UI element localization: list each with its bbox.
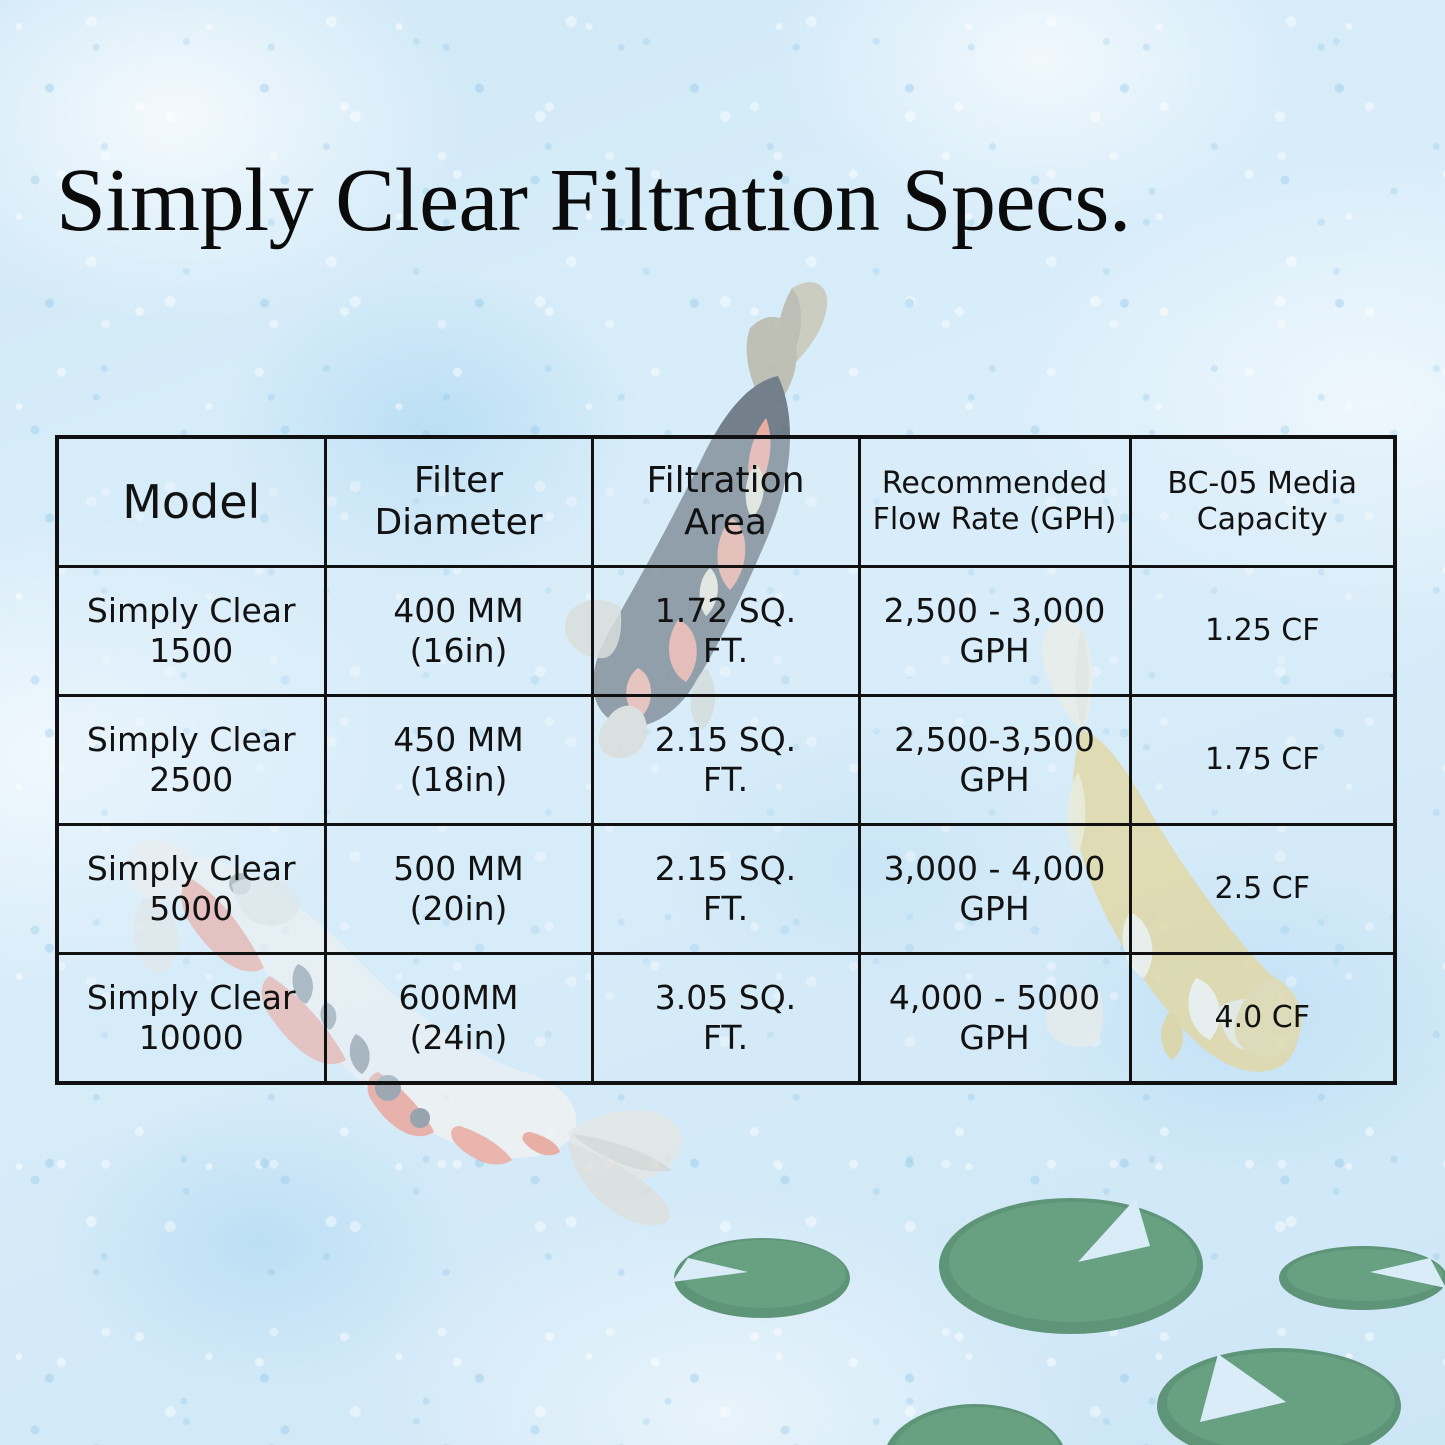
cell-flow-rate: 2,500 - 3,000 GPH bbox=[859, 567, 1130, 696]
cell-media-capacity: 1.75 CF bbox=[1130, 696, 1395, 825]
cell-filter-diameter: 600MM (24in) bbox=[325, 954, 592, 1084]
column-header-filter-diameter: Filter Diameter bbox=[325, 437, 592, 567]
cell-line-2: 1500 bbox=[149, 631, 233, 670]
cell-line-2: FT. bbox=[703, 631, 748, 670]
cell-line-2: GPH bbox=[959, 889, 1029, 928]
header-line-2: Capacity bbox=[1197, 502, 1328, 537]
cell-filter-diameter: 500 MM (20in) bbox=[325, 825, 592, 954]
lily-pad-icon bbox=[1278, 1240, 1445, 1312]
cell-line-2: (16in) bbox=[410, 631, 508, 670]
header-line-2: Diameter bbox=[374, 502, 542, 543]
table-row: Simply Clear 2500 450 MM (18in) 2.15 SQ.… bbox=[57, 696, 1395, 825]
cell-line-2: FT. bbox=[703, 760, 748, 799]
cell-media-capacity: 4.0 CF bbox=[1130, 954, 1395, 1084]
header-line-2: Flow Rate (GPH) bbox=[873, 502, 1117, 537]
column-header-media-capacity: BC-05 Media Capacity bbox=[1130, 437, 1395, 567]
cell-filtration-area: 3.05 SQ. FT. bbox=[592, 954, 859, 1084]
cell-line-1: 500 MM bbox=[393, 849, 523, 888]
cell-line-1: 2.15 SQ. bbox=[655, 849, 796, 888]
header-line-1: Filtration bbox=[646, 460, 804, 501]
cell-line-2: 10000 bbox=[139, 1018, 244, 1057]
filtration-specs-table: Model Filter Diameter Filtration Area Re… bbox=[55, 435, 1397, 1085]
cell-filtration-area: 2.15 SQ. FT. bbox=[592, 696, 859, 825]
cell-line-2: GPH bbox=[959, 1018, 1029, 1057]
lily-pad-icon bbox=[1154, 1340, 1404, 1445]
cell-line-1: 3.05 SQ. bbox=[655, 978, 796, 1017]
cell-line-1: Simply Clear bbox=[87, 720, 296, 759]
cell-filter-diameter: 400 MM (16in) bbox=[325, 567, 592, 696]
cell-line-1: 2.15 SQ. bbox=[655, 720, 796, 759]
cell-line-1: Simply Clear bbox=[87, 849, 296, 888]
header-line-1: BC-05 Media bbox=[1167, 466, 1357, 501]
cell-line-2: GPH bbox=[959, 760, 1029, 799]
cell-flow-rate: 2,500-3,500 GPH bbox=[859, 696, 1130, 825]
cell-model: Simply Clear 5000 bbox=[57, 825, 325, 954]
cell-line-2: FT. bbox=[703, 1018, 748, 1057]
cell-flow-rate: 4,000 - 5000 GPH bbox=[859, 954, 1130, 1084]
cell-media-capacity: 2.5 CF bbox=[1130, 825, 1395, 954]
lily-pad-icon bbox=[672, 1232, 852, 1322]
cell-filtration-area: 1.72 SQ. FT. bbox=[592, 567, 859, 696]
cell-line-1: 2,500-3,500 bbox=[894, 720, 1095, 759]
column-header-flow-rate: Recommended Flow Rate (GPH) bbox=[859, 437, 1130, 567]
cell-line-2: 5000 bbox=[149, 889, 233, 928]
lily-pad-icon bbox=[936, 1190, 1206, 1338]
cell-model: Simply Clear 2500 bbox=[57, 696, 325, 825]
table-row: Simply Clear 1500 400 MM (16in) 1.72 SQ.… bbox=[57, 567, 1395, 696]
cell-line-1: 3,000 - 4,000 bbox=[884, 849, 1106, 888]
cell-line-1: 400 MM bbox=[393, 591, 523, 630]
cell-line-1: 600MM bbox=[399, 978, 519, 1017]
header-line-1: Filter bbox=[414, 460, 503, 501]
cell-line-1: Simply Clear bbox=[87, 978, 296, 1017]
table-row: Simply Clear 10000 600MM (24in) 3.05 SQ.… bbox=[57, 954, 1395, 1084]
cell-media-capacity: 1.25 CF bbox=[1130, 567, 1395, 696]
cell-filter-diameter: 450 MM (18in) bbox=[325, 696, 592, 825]
poster-canvas: Simply Clear Filtration Specs. Model Fil… bbox=[0, 0, 1445, 1445]
cell-line-2: 2500 bbox=[149, 760, 233, 799]
cell-model: Simply Clear 1500 bbox=[57, 567, 325, 696]
column-header-model: Model bbox=[57, 437, 325, 567]
cell-line-1: 2,500 - 3,000 bbox=[884, 591, 1106, 630]
cell-line-2: FT. bbox=[703, 889, 748, 928]
cell-filtration-area: 2.15 SQ. FT. bbox=[592, 825, 859, 954]
cell-line-1: 4,000 - 5000 bbox=[889, 978, 1100, 1017]
cell-line-2: GPH bbox=[959, 631, 1029, 670]
header-line-2: Area bbox=[684, 502, 767, 543]
cell-line-2: (18in) bbox=[410, 760, 508, 799]
cell-model: Simply Clear 10000 bbox=[57, 954, 325, 1084]
column-header-filtration-area: Filtration Area bbox=[592, 437, 859, 567]
page-title: Simply Clear Filtration Specs. bbox=[56, 156, 1396, 246]
table-header-row: Model Filter Diameter Filtration Area Re… bbox=[57, 437, 1395, 567]
header-line-1: Recommended bbox=[882, 466, 1107, 501]
lily-pad-icon bbox=[880, 1400, 1070, 1445]
cell-line-1: Simply Clear bbox=[87, 591, 296, 630]
cell-flow-rate: 3,000 - 4,000 GPH bbox=[859, 825, 1130, 954]
cell-line-1: 450 MM bbox=[393, 720, 523, 759]
cell-line-1: 1.72 SQ. bbox=[655, 591, 796, 630]
table-row: Simply Clear 5000 500 MM (20in) 2.15 SQ.… bbox=[57, 825, 1395, 954]
cell-line-2: (24in) bbox=[410, 1018, 508, 1057]
cell-line-2: (20in) bbox=[410, 889, 508, 928]
